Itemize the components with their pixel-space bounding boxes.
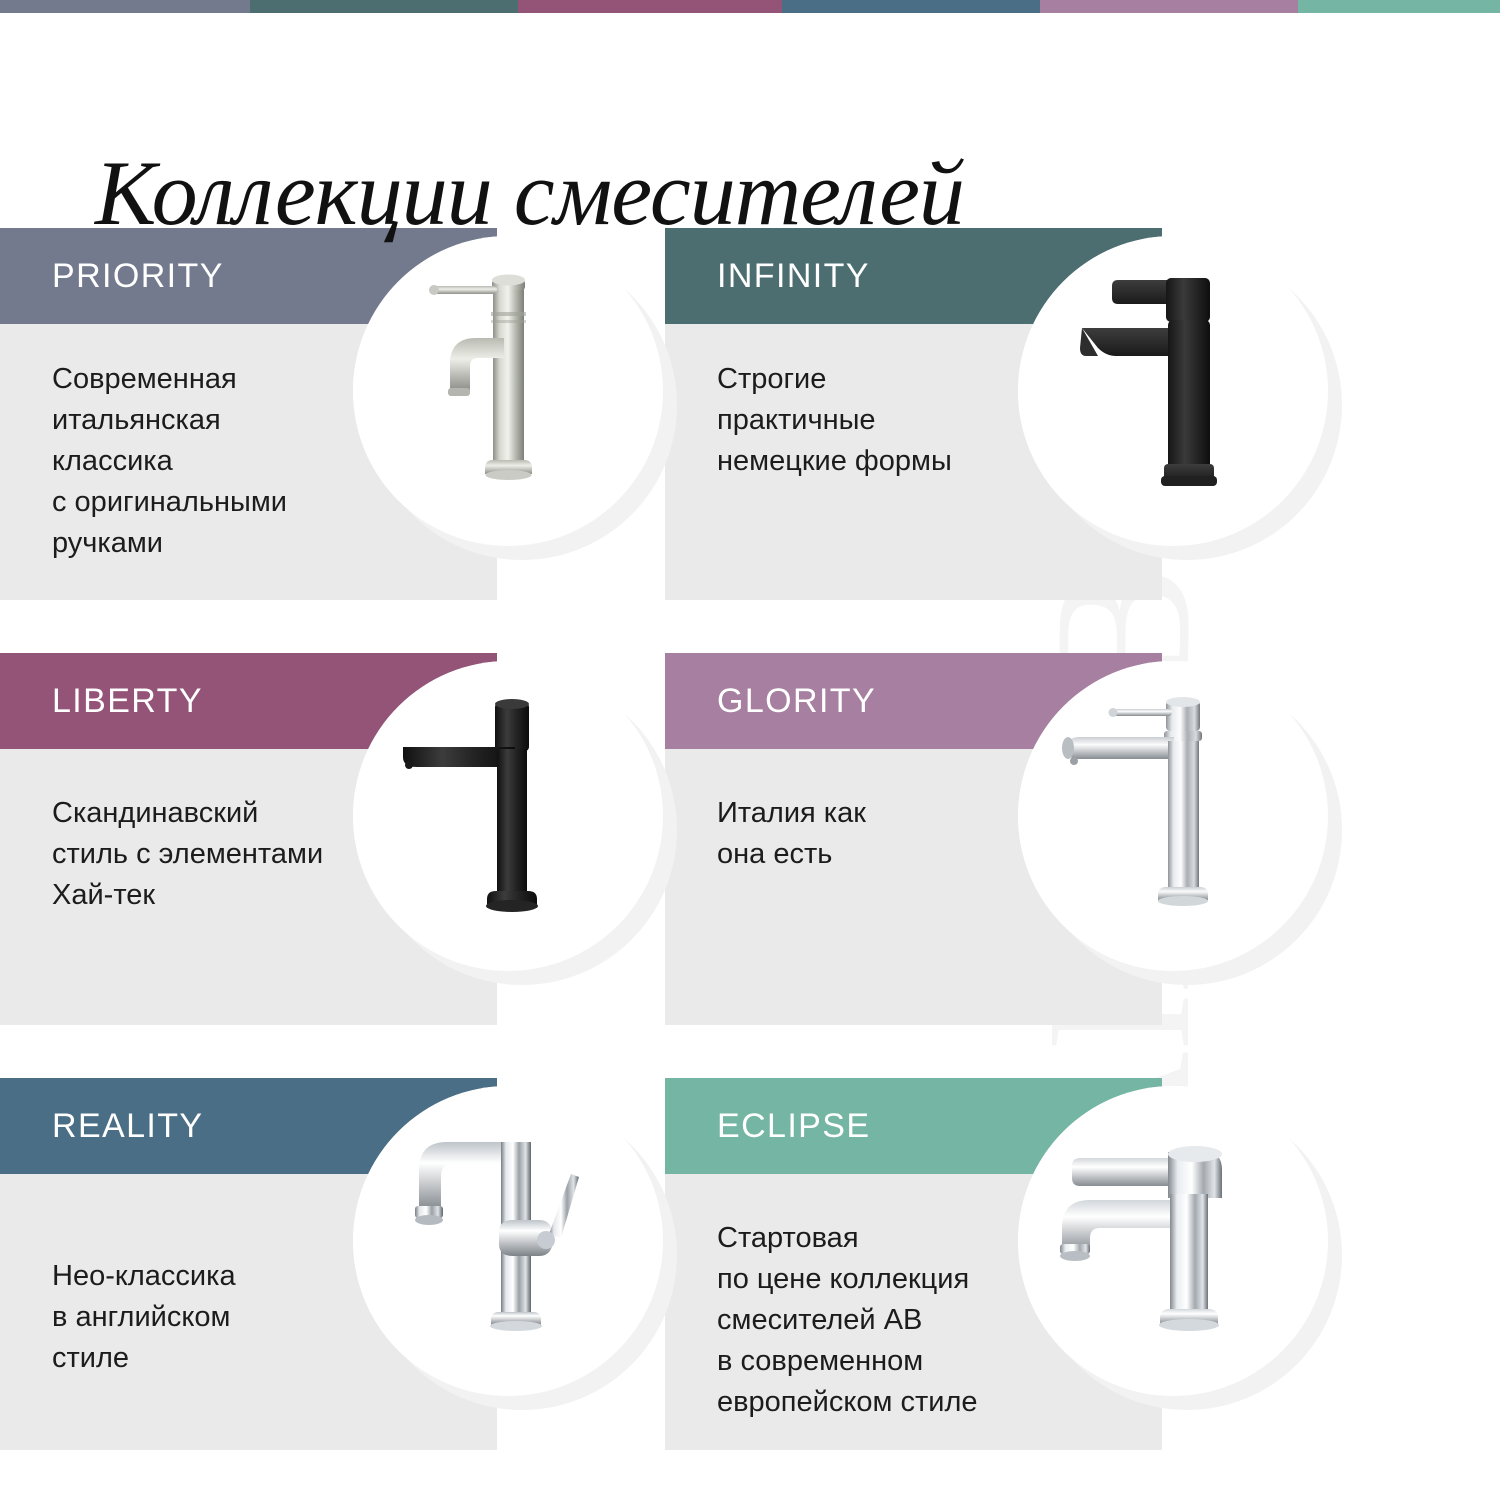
collection-card-glority[interactable]: GLORITY Италия как она есть <box>665 653 1162 1025</box>
strip-segment-infinity <box>250 0 518 13</box>
card-title: ECLIPSE <box>717 1107 870 1146</box>
strip-segment-glority <box>1040 0 1298 13</box>
page-title: Коллекции смесителей <box>95 140 964 246</box>
top-color-strip <box>0 0 1500 13</box>
collections-grid: PRIORITY Современная итальянская классик… <box>0 228 1500 1503</box>
strip-segment-liberty <box>518 0 782 13</box>
card-title: INFINITY <box>717 257 870 296</box>
strip-segment-reality <box>782 0 1040 13</box>
card-title: LIBERTY <box>52 682 203 721</box>
strip-segment-eclipse <box>1298 0 1500 13</box>
infinity-faucet-icon <box>1018 236 1328 546</box>
reality-faucet-icon <box>353 1086 663 1396</box>
collections-row-2: LIBERTY Скандинавский стиль с элементами… <box>0 653 1500 1078</box>
glority-faucet-icon <box>1018 661 1328 971</box>
collections-row-3: REALITY Нео-классика в английском стиле <box>0 1078 1500 1503</box>
product-photo-circle <box>1018 236 1328 546</box>
collection-card-infinity[interactable]: INFINITY Строгие практичные немецкие фор… <box>665 228 1162 600</box>
product-photo-circle <box>353 661 663 971</box>
product-photo-circle <box>353 236 663 546</box>
collections-row-1: PRIORITY Современная итальянская классик… <box>0 228 1500 653</box>
collection-card-priority[interactable]: PRIORITY Современная итальянская классик… <box>0 228 497 600</box>
eclipse-faucet-icon <box>1018 1086 1328 1396</box>
liberty-faucet-icon <box>353 661 663 971</box>
collection-card-liberty[interactable]: LIBERTY Скандинавский стиль с элементами… <box>0 653 497 1025</box>
card-title: REALITY <box>52 1107 204 1146</box>
product-photo-circle <box>353 1086 663 1396</box>
card-title: GLORITY <box>717 682 876 721</box>
priority-faucet-icon <box>353 236 663 546</box>
product-photo-circle <box>1018 661 1328 971</box>
product-photo-circle <box>1018 1086 1328 1396</box>
card-title: PRIORITY <box>52 257 224 296</box>
collection-card-reality[interactable]: REALITY Нео-классика в английском стиле <box>0 1078 497 1450</box>
collection-card-eclipse[interactable]: ECLIPSE Стартовая по цене коллекция смес… <box>665 1078 1162 1450</box>
strip-segment-priority <box>0 0 250 13</box>
